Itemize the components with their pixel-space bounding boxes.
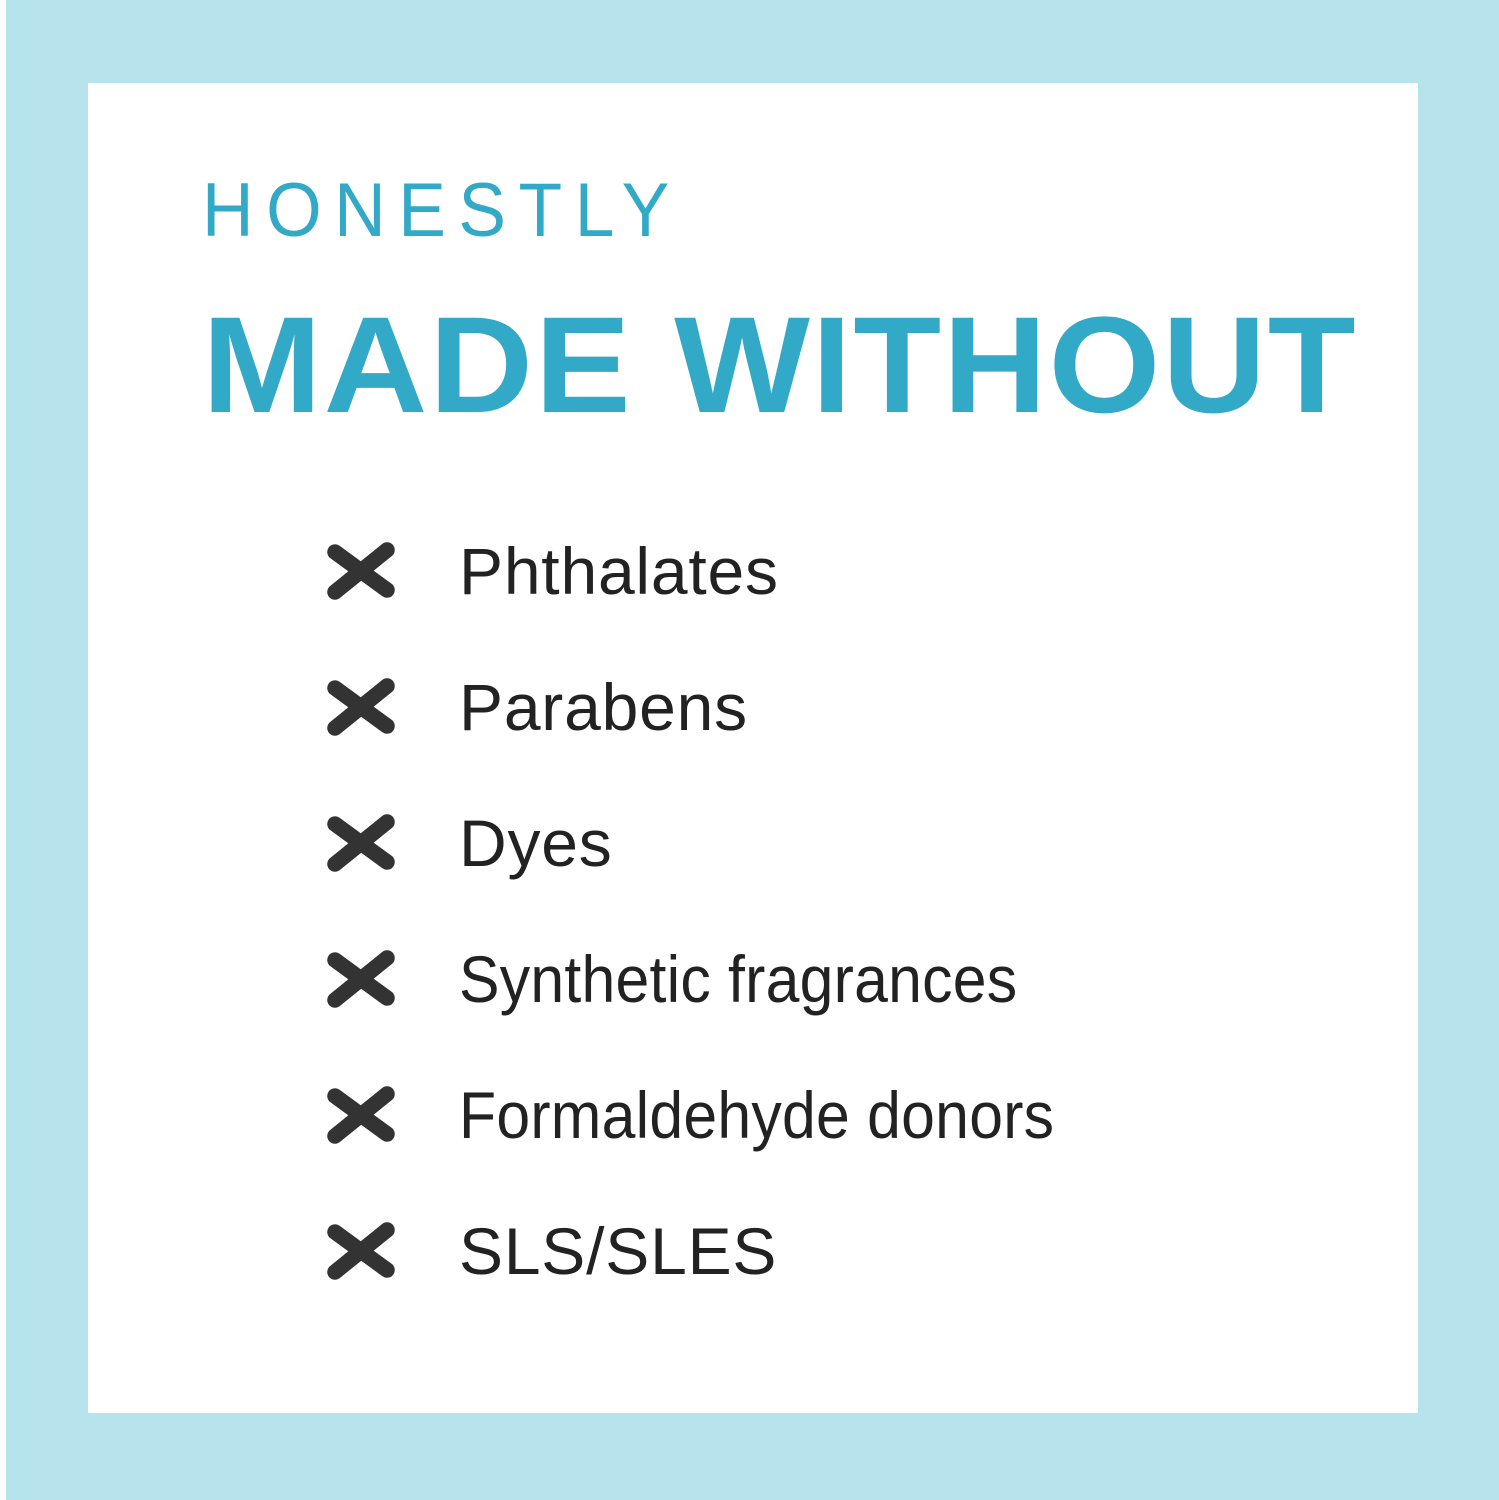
exclusion-list: Phthalates Parabens [325,503,1106,1319]
eyebrow-text: HONESTLY [202,173,1321,249]
list-item: Parabens [325,639,1106,775]
list-item-label: SLS/SLES [459,1218,777,1284]
list-item-label: Parabens [459,674,748,740]
list-item-label: Dyes [459,810,613,876]
list-item-label: Formaldehyde donors [459,1082,1054,1148]
white-content-card: HONESTLY MADE WITHOUT Phthalates [88,83,1418,1413]
x-mark-icon [325,671,397,743]
x-mark-icon [325,535,397,607]
x-mark-icon [325,807,397,879]
x-mark-icon [325,1215,397,1287]
list-item: SLS/SLES [325,1183,1106,1319]
list-item: Formaldehyde donors [325,1047,1106,1183]
list-item: Phthalates [325,503,1106,639]
list-item-label: Synthetic fragrances [459,946,1017,1012]
heading-block: HONESTLY MADE WITHOUT [202,173,1392,434]
list-item: Synthetic fragrances [325,911,1106,1047]
product-claims-graphic: HONESTLY MADE WITHOUT Phthalates [0,0,1499,1500]
list-item: Dyes [325,775,1106,911]
list-item-label: Phthalates [459,538,779,604]
x-mark-icon [325,1079,397,1151]
x-mark-icon [325,943,397,1015]
page-title: MADE WITHOUT [202,297,1452,434]
